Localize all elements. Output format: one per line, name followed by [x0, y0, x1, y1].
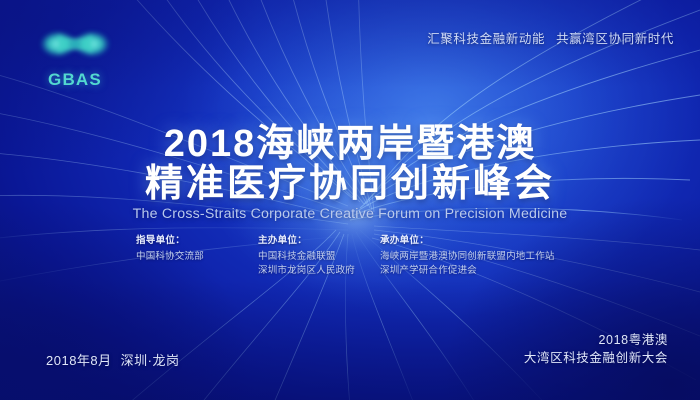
organizer-entry: 中国科技金融联盟 [258, 250, 380, 264]
gbas-bowtie-icon [36, 24, 114, 66]
tagline-part-2: 共赢湾区协同新时代 [556, 32, 674, 46]
tagline-part-1: 汇聚科技金融新动能 [427, 32, 545, 46]
footer-event-name: 2018粤港澳 大湾区科技金融创新大会 [524, 331, 668, 367]
title-line-1: 2018海峡两岸暨港澳 [0, 124, 700, 164]
title-line-2: 精准医疗协同创新峰会 [0, 164, 700, 204]
english-subtitle: The Cross-Straits Corporate Creative For… [0, 206, 700, 222]
event-poster: GBAS 汇聚科技金融新动能共赢湾区协同新时代 2018海峡两岸暨港澳 精准医疗… [0, 0, 700, 400]
organizer-column-host: 主办单位： 中国科技金融联盟 深圳市龙岗区人民政府 [258, 232, 380, 277]
footer-date-location: 2018年8月深圳·龙岗 [46, 350, 180, 369]
organizer-entry: 深圳市龙岗区人民政府 [258, 264, 380, 278]
organizer-column-organizer: 承办单位： 海峡两岸暨港澳协同创新联盟内地工作站 深圳产学研合作促进会 [380, 232, 610, 277]
main-title: 2018海峡两岸暨港澳 精准医疗协同创新峰会 [0, 124, 700, 204]
footer-location: 深圳·龙岗 [121, 353, 180, 368]
organizer-entry: 中国科协交流部 [136, 250, 258, 264]
gbas-logo: GBAS [36, 24, 114, 90]
organizers-block: 指导单位： 中国科协交流部 主办单位： 中国科技金融联盟 深圳市龙岗区人民政府 … [136, 232, 610, 277]
footer-event-line-1: 2018粤港澳 [524, 331, 668, 349]
organizer-heading: 主办单位： [258, 232, 380, 246]
footer-event-line-2: 大湾区科技金融创新大会 [524, 349, 668, 367]
top-tagline: 汇聚科技金融新动能共赢湾区协同新时代 [427, 28, 674, 47]
organizer-entry: 深圳产学研合作促进会 [380, 264, 610, 278]
footer-date: 2018年8月 [46, 353, 112, 368]
organizer-heading: 指导单位： [136, 232, 258, 246]
gbas-logo-text: GBAS [36, 70, 114, 90]
organizer-heading: 承办单位： [380, 232, 610, 246]
organizer-column-guidance: 指导单位： 中国科协交流部 [136, 232, 258, 264]
organizer-entry: 海峡两岸暨港澳协同创新联盟内地工作站 [380, 250, 610, 264]
